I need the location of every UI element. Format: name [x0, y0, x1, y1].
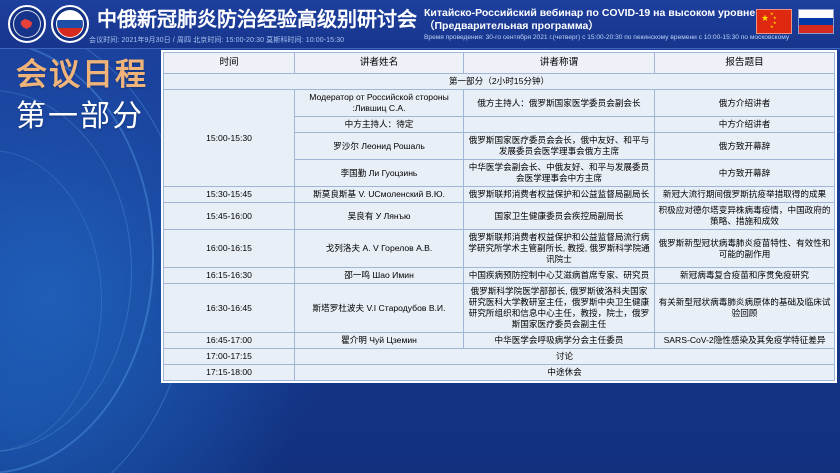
flag-group: ★ ★★ ★★ — [756, 9, 834, 34]
left-title-panel: 会议日程 第一部分 — [0, 48, 158, 473]
table-body: 15:00-15:30Модератор от Российской сторо… — [164, 90, 835, 381]
russian-time-info: Время проведения: 30-го сентября 2021 г.… — [424, 34, 789, 41]
russian-title-block: Китайско-Российский вебинар по COVID-19 … — [424, 7, 789, 42]
table-header-row: 时间 讲者姓名 讲者称谓 报告题目 — [164, 53, 835, 74]
cell-speaker-name: 罗沙尔 Леонид Рошаль — [295, 133, 464, 160]
page-title-ru-line1: Китайско-Российский вебинар по COVID-19 … — [424, 7, 789, 20]
cell-speaker-role: 俄方主持人：俄罗斯国家医学委员会副会长 — [463, 90, 654, 117]
cell-speaker-role: 俄罗斯国家医疗委员会会长，俄中友好、和平与发展委员会医学理事会俄方主席 — [463, 133, 654, 160]
cell-speaker-name: 吴良有 У Лянъю — [295, 203, 464, 230]
cell-time: 15:45-16:00 — [164, 203, 295, 230]
russia-emblem-icon — [51, 5, 89, 43]
cell-speaker-name: 邵一鸣 Шао Имин — [295, 268, 464, 284]
cell-time: 17:00-17:15 — [164, 349, 295, 365]
cell-time: 16:30-16:45 — [164, 284, 295, 333]
table-row: 15:00-15:30Модератор от Российской сторо… — [164, 90, 835, 117]
cell-time: 15:00-15:30 — [164, 90, 295, 187]
cell-topic: 新冠病毒复合疫苗和序贯免疫研究 — [655, 268, 835, 284]
cell-speaker-name: 中方主持人：待定 — [295, 117, 464, 133]
table-head: 时间 讲者姓名 讲者称谓 报告题目 第一部分（2小时15分钟） — [164, 53, 835, 90]
slide-header: 中俄新冠肺炎防治经验高级别研讨会 会议时间: 2021年9月30日 / 周四 北… — [0, 0, 840, 49]
cell-speaker-name: 瞿介明 Чуй Цземин — [295, 333, 464, 349]
cell-time: 16:15-16:30 — [164, 268, 295, 284]
cell-time: 16:45-17:00 — [164, 333, 295, 349]
cell-session-label: 中途休会 — [295, 365, 835, 381]
cell-topic: 中方介绍讲者 — [655, 117, 835, 133]
chinese-title-block: 中俄新冠肺炎防治经验高级别研讨会 会议时间: 2021年9月30日 / 周四 北… — [89, 3, 417, 45]
cell-topic: 俄方致开幕辞 — [655, 133, 835, 160]
cell-speaker-name: 斯莫良斯基 V. UCмоленский В.Ю. — [295, 187, 464, 203]
cell-speaker-role: 俄罗斯联邦消费者权益保护和公益监督局流行病学研究所学术主管副所长, 教授, 俄罗… — [463, 230, 654, 268]
cell-speaker-name: 李国勤 Ли Гуоцзинь — [295, 160, 464, 187]
table-row: 16:00-16:15戈列洛夫 A. V Горелов А.В.俄罗斯联邦消费… — [164, 230, 835, 268]
cell-time: 16:00-16:15 — [164, 230, 295, 268]
column-header-role: 讲者称谓 — [463, 53, 654, 74]
cell-speaker-name: 斯塔罗杜波夫 V.I Стародубов В.И. — [295, 284, 464, 333]
cell-time: 17:15-18:00 — [164, 365, 295, 381]
chinese-time-info: 会议时间: 2021年9月30日 / 周四 北京时间: 15:00-20:30 … — [89, 35, 417, 45]
cell-topic: 积极应对德尔塔变异株病毒疫情，中国政府的策略、措施和成效 — [655, 203, 835, 230]
cell-speaker-role: 俄罗斯联邦消费者权益保护和公益监督局副局长 — [463, 187, 654, 203]
emblem-group — [0, 5, 89, 43]
cell-topic: 俄罗斯新型冠状病毒肺炎疫苗特性、有效性和可能的副作用 — [655, 230, 835, 268]
table-row: 15:30-15:45斯莫良斯基 V. UCмоленский В.Ю.俄罗斯联… — [164, 187, 835, 203]
russia-flag-icon — [798, 9, 834, 34]
china-flag-icon: ★ ★★ ★★ — [756, 9, 792, 34]
china-emblem-icon — [8, 5, 46, 43]
section-header-row: 第一部分（2小时15分钟） — [164, 74, 835, 90]
table-row: 16:15-16:30邵一鸣 Шао Имин中国疾病预防控制中心艾滋病首席专家… — [164, 268, 835, 284]
agenda-table: 时间 讲者姓名 讲者称谓 报告题目 第一部分（2小时15分钟） 15:00-15… — [163, 52, 835, 381]
cell-session-label: 讨论 — [295, 349, 835, 365]
cell-speaker-role: 中华医学会呼吸病学分会主任委员 — [463, 333, 654, 349]
cell-time: 15:30-15:45 — [164, 187, 295, 203]
cell-speaker-role — [463, 117, 654, 133]
cell-topic: 中方致开幕辞 — [655, 160, 835, 187]
cell-speaker-name: 戈列洛夫 A. V Горелов А.В. — [295, 230, 464, 268]
cell-speaker-role: 中国疾病预防控制中心艾滋病首席专家、研究员 — [463, 268, 654, 284]
column-header-time: 时间 — [164, 53, 295, 74]
column-header-topic: 报告题目 — [655, 53, 835, 74]
column-header-name: 讲者姓名 — [295, 53, 464, 74]
table-row: 16:30-16:45斯塔罗杜波夫 V.I Стародубов В.И.俄罗斯… — [164, 284, 835, 333]
cell-speaker-role: 俄罗斯科学院医学部部长, 俄罗斯彼洛科夫国家研究医科大学教研室主任，俄罗斯中央卫… — [463, 284, 654, 333]
cell-topic: 俄方介绍讲者 — [655, 90, 835, 117]
cell-topic: SARS-CoV-2隐性感染及其免疫学特征差异 — [655, 333, 835, 349]
page-title: 中俄新冠肺炎防治经验高级别研讨会 — [97, 3, 417, 32]
agenda-subheading: 第一部分 — [16, 100, 144, 134]
table-row: 15:45-16:00吴良有 У Лянъю国家卫生健康委员会疾控局副局长积极应… — [164, 203, 835, 230]
cell-speaker-name: Модератор от Российской стороны :Лившиц … — [295, 90, 464, 117]
cell-topic: 新冠大流行期间俄罗斯抗疫举措取得的成果 — [655, 187, 835, 203]
cell-speaker-role: 国家卫生健康委员会疾控局副局长 — [463, 203, 654, 230]
section-label: 第一部分（2小时15分钟） — [164, 74, 835, 90]
agenda-table-container: 时间 讲者姓名 讲者称谓 报告题目 第一部分（2小时15分钟） 15:00-15… — [161, 50, 837, 383]
agenda-heading: 会议日程 — [16, 58, 148, 93]
page-title-ru-line2: （Предварительная программа） — [424, 20, 789, 33]
cell-speaker-role: 中华医学会副会长、中俄友好、和平与发展委员会医学理事会中方主席 — [463, 160, 654, 187]
table-row: 16:45-17:00瞿介明 Чуй Цземин中华医学会呼吸病学分会主任委员… — [164, 333, 835, 349]
table-row: 17:00-17:15讨论 — [164, 349, 835, 365]
cell-topic: 有关新型冠状病毒肺炎病原体的基础及临床试验回顾 — [655, 284, 835, 333]
table-row: 17:15-18:00中途休会 — [164, 365, 835, 381]
